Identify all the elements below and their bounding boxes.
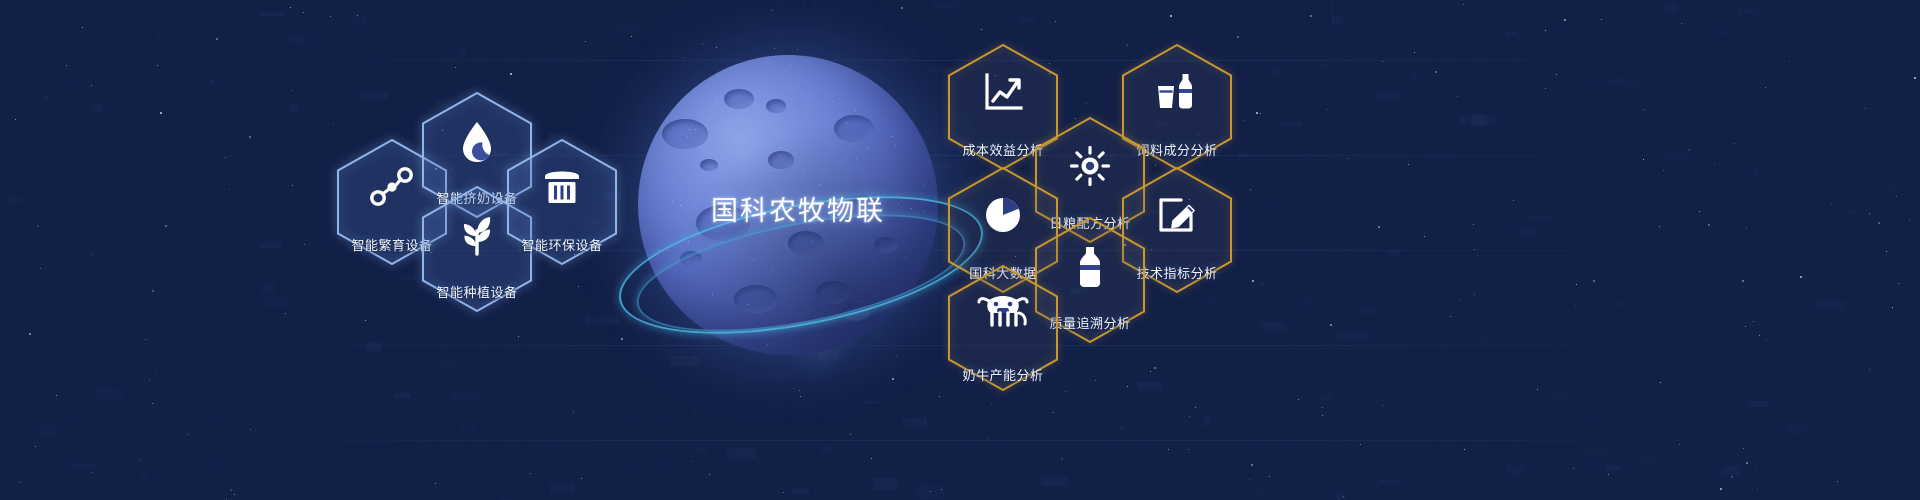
crater [834, 115, 874, 142]
hex-label-cow-capacity: 奶牛产能分析 [926, 365, 1080, 384]
crater [766, 99, 786, 113]
hex-tile-cow-capacity[interactable]: 奶牛产能分析 [948, 265, 1058, 391]
hero-banner: 国科农牧物联 智能繁育设备 智能挤奶设备 智能种植设备 智能环保设备 [0, 0, 1920, 500]
bottle-glass-icon [1122, 72, 1232, 117]
center-globe: 国科农牧物联 [638, 55, 958, 375]
crater [724, 89, 754, 109]
crater [662, 119, 708, 149]
trash-bin-icon [507, 167, 617, 212]
hex-label-planting: 智能种植设备 [400, 282, 554, 301]
hex-tile-environment[interactable]: 智能环保设备 [507, 139, 617, 265]
crater [700, 159, 718, 171]
crater [768, 151, 794, 169]
cow-icon [948, 291, 1058, 336]
line-chart-icon [948, 72, 1058, 117]
hex-label-environment: 智能环保设备 [485, 235, 639, 254]
